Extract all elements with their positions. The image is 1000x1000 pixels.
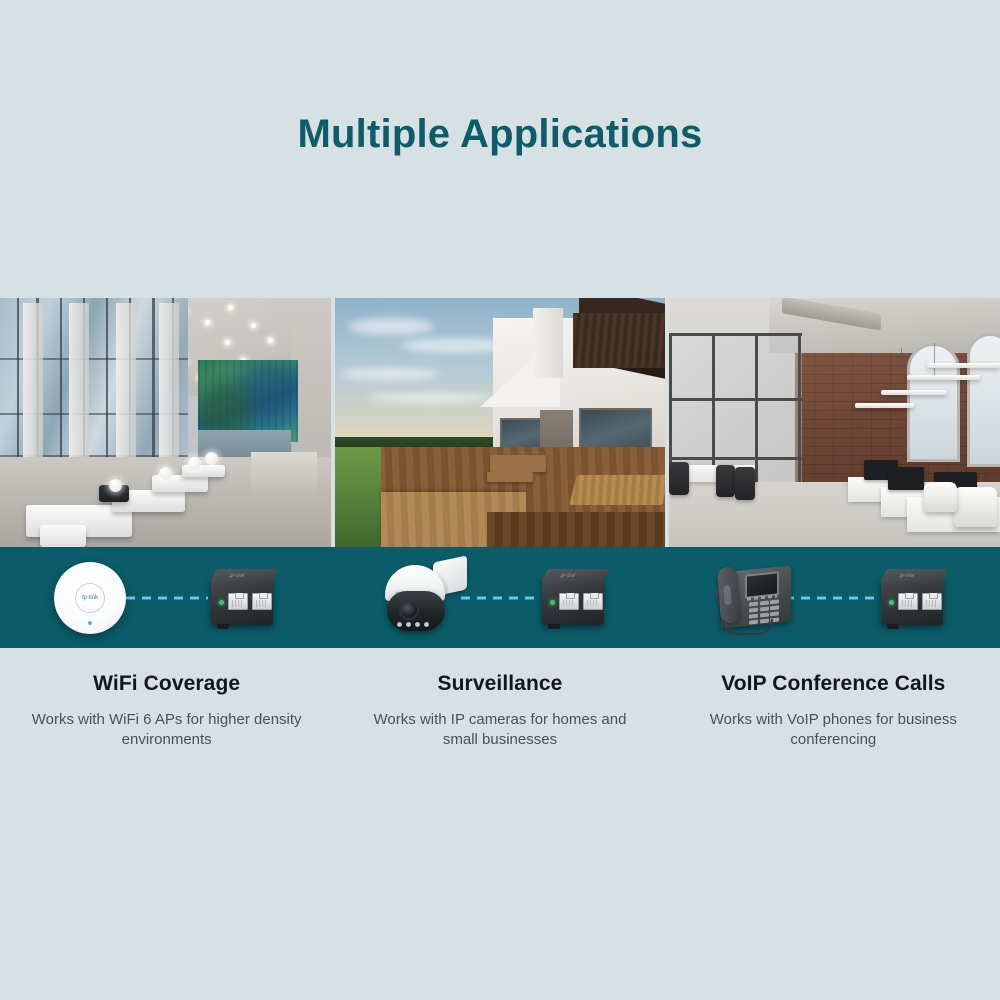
phone-key bbox=[749, 602, 758, 607]
partition-frame bbox=[669, 333, 801, 336]
partition-frame bbox=[669, 457, 801, 460]
poe-injector-icon: tp-link bbox=[875, 567, 949, 629]
ptz-security-camera-icon: tp-link bbox=[381, 557, 467, 637]
downlight-icon bbox=[268, 338, 273, 343]
poe-injector-icon: tp-link bbox=[205, 567, 279, 629]
dashed-ethernet-link bbox=[126, 596, 208, 599]
photo-hotel-lobby bbox=[0, 298, 331, 547]
partition-frame bbox=[669, 398, 801, 401]
device-pair-wifi: tp-link tp-link bbox=[0, 547, 333, 648]
poe-port-group bbox=[228, 593, 272, 610]
phone-key bbox=[759, 601, 768, 606]
table-lamp-icon bbox=[205, 452, 218, 465]
phone-key bbox=[770, 605, 779, 610]
device-diagram-band: tp-link tp-link bbox=[0, 547, 1000, 648]
rj45-port-icon bbox=[583, 593, 603, 610]
pendant-cord bbox=[868, 353, 869, 383]
poe-brand-label: tp-link bbox=[897, 573, 917, 579]
meeting-chair bbox=[735, 467, 755, 499]
poe-injector-icon: tp-link bbox=[536, 567, 610, 629]
phone-handset bbox=[717, 566, 741, 623]
camera-lens-icon bbox=[399, 600, 419, 620]
pendant-light-icon bbox=[907, 375, 980, 380]
page-title-container: Multiple Applications bbox=[0, 112, 1000, 157]
ir-led-icon bbox=[397, 622, 402, 627]
poe-port-group bbox=[898, 593, 942, 610]
phone-key bbox=[749, 608, 758, 613]
ir-led-icon bbox=[406, 622, 411, 627]
camera-dome bbox=[387, 591, 445, 631]
phone-cord bbox=[721, 619, 773, 635]
phone-key bbox=[759, 606, 768, 611]
phone-key bbox=[749, 613, 758, 618]
cloud bbox=[368, 393, 494, 403]
device-pair-voip: tp-link bbox=[667, 547, 1000, 648]
caption-wifi-coverage: WiFi Coverage Works with WiFi 6 APs for … bbox=[0, 672, 333, 792]
phone-key bbox=[770, 611, 779, 616]
meeting-chair bbox=[669, 462, 689, 494]
cloud bbox=[348, 318, 434, 335]
pendant-cord bbox=[934, 343, 935, 378]
rj45-port-icon bbox=[898, 593, 918, 610]
poe-brand-label: tp-link bbox=[227, 573, 247, 579]
ap-logo-ring: tp-link bbox=[75, 583, 105, 613]
pendant-light-icon bbox=[855, 403, 915, 408]
application-showcase-page: Multiple Applications bbox=[0, 0, 1000, 1000]
phone-key bbox=[770, 599, 779, 604]
poe-status-led bbox=[219, 600, 224, 605]
photo-house-deck bbox=[335, 298, 666, 547]
poe-foot bbox=[548, 624, 560, 629]
pendant-light-icon bbox=[881, 390, 947, 395]
chimney bbox=[533, 308, 563, 378]
rj45-port-icon bbox=[228, 593, 248, 610]
reception-desk bbox=[251, 452, 317, 492]
caption-voip-conference-calls: VoIP Conference Calls Works with VoIP ph… bbox=[667, 672, 1000, 792]
caption-row: WiFi Coverage Works with WiFi 6 APs for … bbox=[0, 672, 1000, 792]
ir-led-icon bbox=[424, 622, 429, 627]
poe-foot bbox=[887, 624, 899, 629]
ir-led-icon bbox=[415, 622, 420, 627]
office-chair bbox=[954, 487, 997, 527]
caption-surveillance: Surveillance Works with IP cameras for h… bbox=[333, 672, 666, 792]
voip-desk-phone-icon bbox=[707, 559, 799, 637]
page-title: Multiple Applications bbox=[0, 112, 1000, 157]
patio-table bbox=[490, 455, 546, 472]
caption-description: Works with IP cameras for homes and smal… bbox=[359, 710, 640, 751]
pendant-light-icon bbox=[927, 363, 1000, 368]
cloud bbox=[341, 368, 440, 380]
caption-description: Works with WiFi 6 APs for higher density… bbox=[26, 710, 307, 751]
deck-front-edge bbox=[487, 512, 666, 547]
poe-status-led bbox=[889, 600, 894, 605]
patio-bench bbox=[487, 472, 533, 482]
dashed-ethernet-link bbox=[461, 596, 539, 599]
arched-window bbox=[967, 333, 1000, 467]
caption-description: Works with VoIP phones for business conf… bbox=[693, 710, 974, 751]
caption-title: WiFi Coverage bbox=[26, 672, 307, 696]
rj45-port-icon bbox=[252, 593, 272, 610]
photo-strip bbox=[0, 298, 1000, 547]
poe-top-face: tp-link bbox=[881, 569, 948, 582]
wood-soffit bbox=[573, 313, 666, 368]
pendant-cord bbox=[901, 348, 902, 380]
lounge-armchair bbox=[40, 525, 86, 547]
ap-status-led bbox=[88, 621, 92, 625]
poe-foot bbox=[217, 624, 229, 629]
caption-title: VoIP Conference Calls bbox=[693, 672, 974, 696]
poe-brand-label: tp-link bbox=[558, 573, 578, 579]
poe-top-face: tp-link bbox=[211, 569, 278, 582]
sun-lounger bbox=[569, 475, 665, 505]
phone-key bbox=[759, 612, 768, 617]
wifi-access-point-icon: tp-link bbox=[54, 562, 126, 634]
meeting-chair bbox=[716, 465, 736, 497]
ap-brand-label: tp-link bbox=[82, 595, 98, 601]
photo-open-office bbox=[669, 298, 1000, 547]
table-lamp-icon bbox=[159, 467, 172, 480]
rj45-port-icon bbox=[922, 593, 942, 610]
caption-title: Surveillance bbox=[359, 672, 640, 696]
monitor-icon bbox=[888, 467, 924, 489]
device-pair-camera: tp-link tp-link bbox=[333, 547, 666, 648]
poe-top-face: tp-link bbox=[542, 569, 609, 582]
rj45-port-icon bbox=[559, 593, 579, 610]
poe-port-group bbox=[559, 593, 603, 610]
office-chair bbox=[924, 482, 957, 512]
